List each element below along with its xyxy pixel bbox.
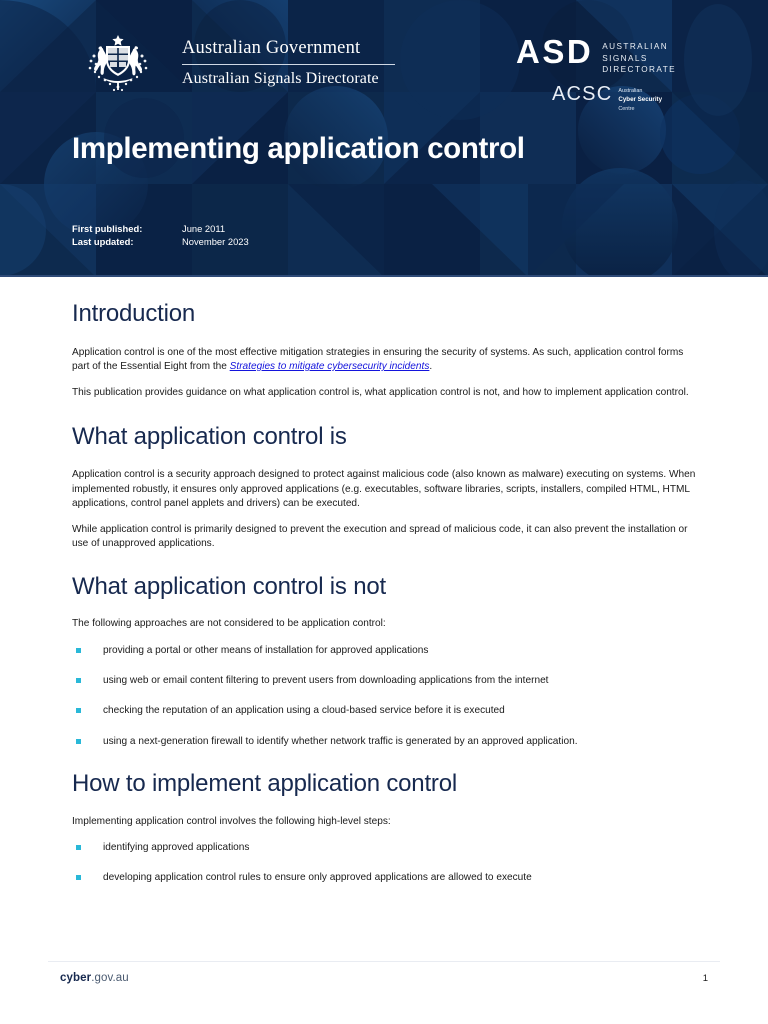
- asd-acsc-logo-lockup: ASD AUSTRALIAN SIGNALS DIRECTORATE ACSC …: [516, 36, 706, 113]
- list-item: developing application control rules to …: [72, 871, 696, 885]
- list-item-label: using a next-generation firewall to iden…: [103, 736, 578, 747]
- introduction-paragraph-1-text-after-link: .: [429, 361, 432, 372]
- document-header-banner: Australian Government Australian Signals…: [0, 0, 768, 277]
- section-introduction: Introduction Application control is one …: [72, 300, 696, 401]
- publication-dates: First published: June 2011 Last updated:…: [72, 222, 249, 249]
- square-bullet-icon: [76, 708, 81, 713]
- header-bottom-rule: [0, 275, 768, 277]
- square-bullet-icon: [76, 648, 81, 653]
- square-bullet-icon: [76, 739, 81, 744]
- heading-what-application-control-is: What application control is: [72, 423, 696, 451]
- list-item: checking the reputation of an applicatio…: [72, 704, 696, 718]
- document-title: Implementing application control: [72, 133, 525, 165]
- heading-introduction: Introduction: [72, 300, 696, 328]
- introduction-paragraph-1: Application control is one of the most e…: [72, 346, 696, 375]
- heading-how-to-implement-application-control: How to implement application control: [72, 770, 696, 798]
- asd-expansion-line-1: AUSTRALIAN: [602, 41, 676, 53]
- brand-bold-text: cyber: [60, 972, 91, 984]
- list-item-label: developing application control rules to …: [103, 872, 532, 883]
- how-to-lead: Implementing application control involve…: [72, 815, 696, 829]
- list-item-label: using web or email content filtering to …: [103, 675, 549, 686]
- last-updated-row: Last updated: November 2023: [72, 235, 249, 248]
- lockup-divider-rule: [182, 64, 395, 65]
- introduction-paragraph-2: This publication provides guidance on wh…: [72, 386, 696, 400]
- australian-signals-directorate-text: Australian Signals Directorate: [182, 69, 395, 89]
- section-what-application-control-is: What application control is Application …: [72, 423, 696, 552]
- strategies-to-mitigate-cybersecurity-incidents-link[interactable]: Strategies to mitigate cybersecurity inc…: [230, 361, 430, 372]
- square-bullet-icon: [76, 845, 81, 850]
- acsc-expansion-line-1: Australian: [618, 87, 662, 95]
- brand-rest-text: .gov.au: [91, 972, 129, 984]
- acsc-expansion-line-2: Cyber Security: [618, 96, 662, 103]
- list-item-label: identifying approved applications: [103, 842, 249, 853]
- list-item: providing a portal or other means of ins…: [72, 644, 696, 658]
- australian-government-lockup: Australian Government Australian Signals…: [72, 32, 395, 94]
- section-what-application-control-is-not: What application control is not The foll…: [72, 573, 696, 749]
- document-body: Introduction Application control is one …: [72, 300, 696, 908]
- asd-expansion-line-3: DIRECTORATE: [602, 64, 676, 76]
- footer-divider-rule: [48, 961, 720, 962]
- list-item: using web or email content filtering to …: [72, 674, 696, 688]
- australian-government-text: Australian Government: [182, 37, 395, 60]
- document-footer: cyber.gov.au 1: [60, 972, 708, 984]
- heading-what-application-control-is-not: What application control is not: [72, 573, 696, 601]
- acsc-expansion-text: Australian Cyber Security Centre: [618, 84, 662, 113]
- first-published-label: First published:: [72, 222, 182, 235]
- section-how-to-implement-application-control: How to implement application control Imp…: [72, 770, 696, 886]
- how-to-bullet-list: identifying approved applications develo…: [72, 841, 696, 886]
- what-is-paragraph-2: While application control is primarily d…: [72, 523, 696, 552]
- document-page: Australian Government Australian Signals…: [0, 0, 768, 1024]
- asd-expansion-text: AUSTRALIAN SIGNALS DIRECTORATE: [602, 36, 676, 76]
- last-updated-value: November 2023: [182, 235, 249, 248]
- last-updated-label: Last updated:: [72, 235, 182, 248]
- page-number: 1: [703, 973, 708, 984]
- list-item-label: providing a portal or other means of ins…: [103, 645, 428, 656]
- list-item: identifying approved applications: [72, 841, 696, 855]
- square-bullet-icon: [76, 875, 81, 880]
- acsc-acronym-text: ACSC: [552, 84, 612, 104]
- first-published-row: First published: June 2011: [72, 222, 249, 235]
- list-item-label: checking the reputation of an applicatio…: [103, 705, 505, 716]
- first-published-value: June 2011: [182, 222, 225, 235]
- what-is-not-bullet-list: providing a portal or other means of ins…: [72, 644, 696, 749]
- asd-expansion-line-2: SIGNALS: [602, 53, 676, 65]
- what-is-not-lead: The following approaches are not conside…: [72, 617, 696, 631]
- asd-acronym-text: ASD: [516, 36, 593, 67]
- cyber-gov-au-brand: cyber.gov.au: [60, 972, 129, 984]
- square-bullet-icon: [76, 678, 81, 683]
- what-is-paragraph-1: Application control is a security approa…: [72, 468, 696, 511]
- coat-of-arms-icon: [72, 32, 164, 94]
- acsc-expansion-line-3: Centre: [618, 105, 662, 113]
- list-item: using a next-generation firewall to iden…: [72, 735, 696, 749]
